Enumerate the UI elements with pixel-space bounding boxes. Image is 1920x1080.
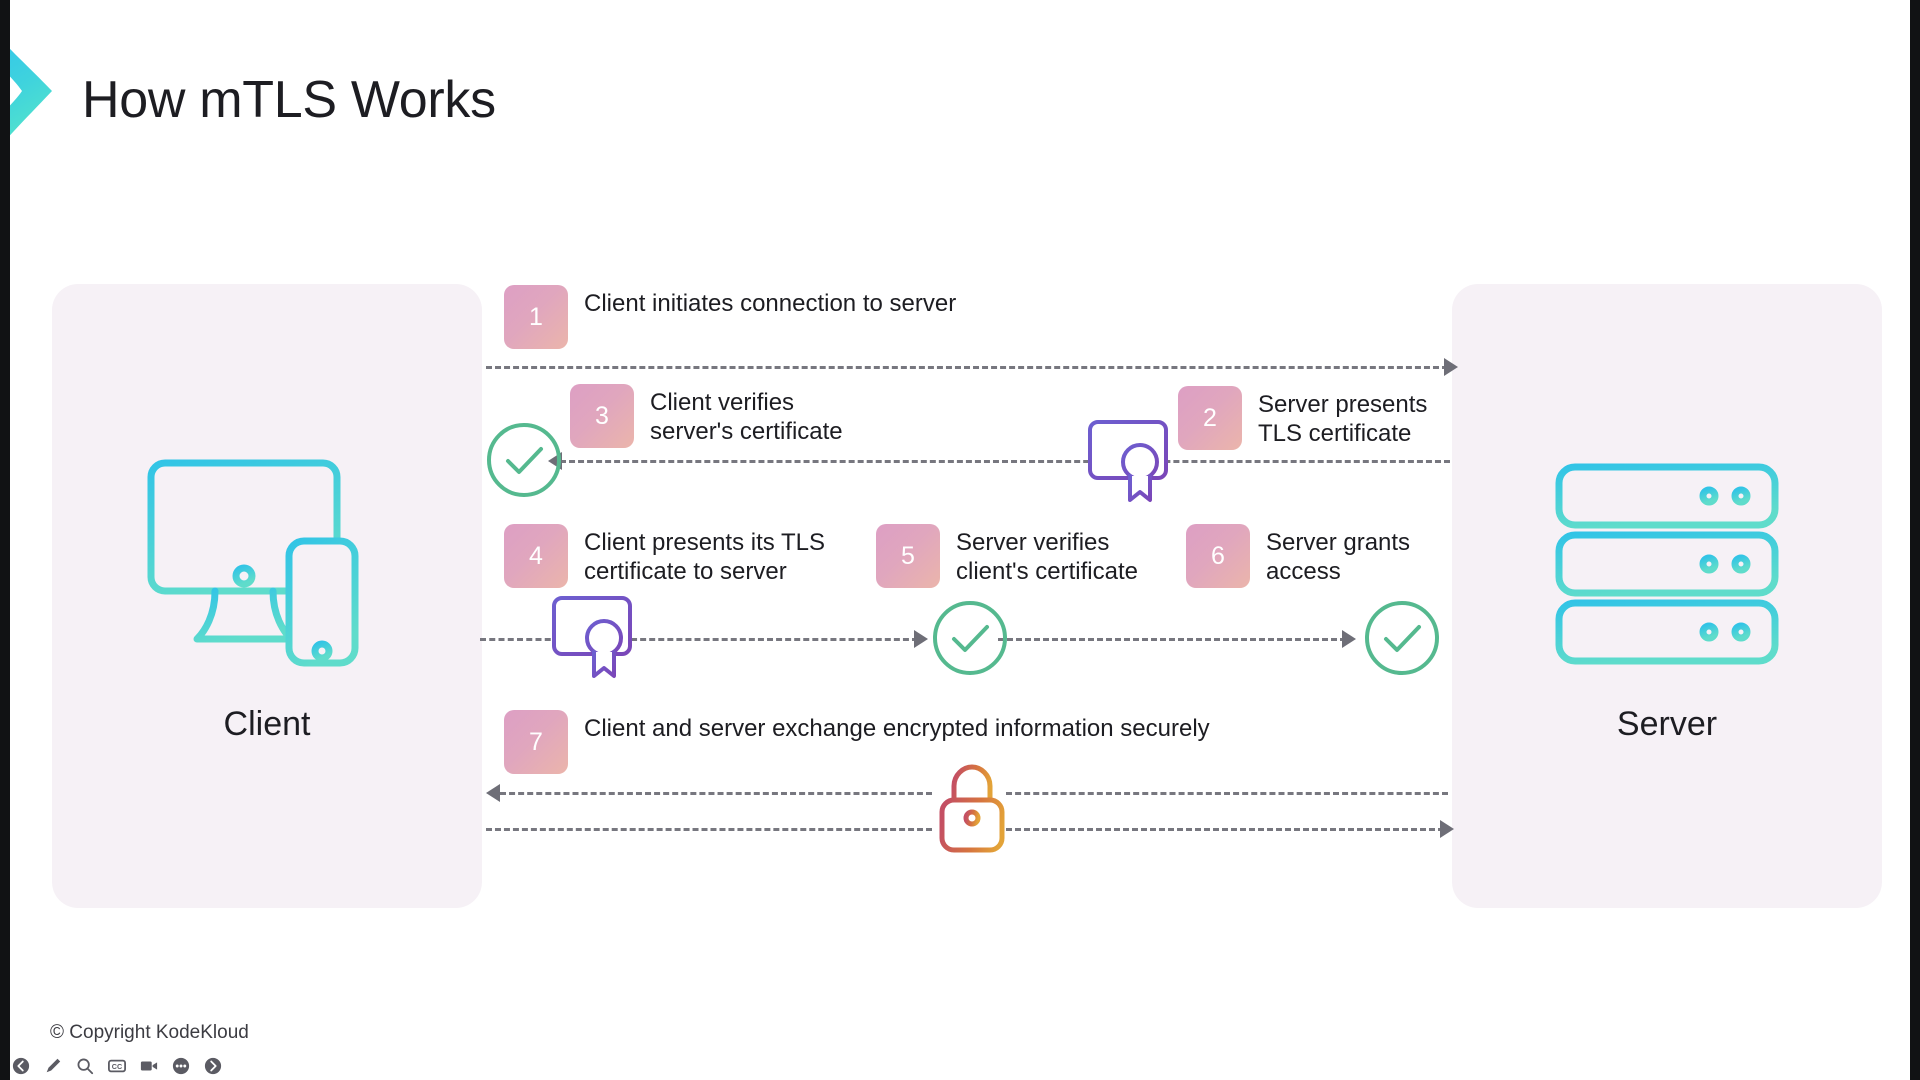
step-2-text: Server presents TLS certificate xyxy=(1258,386,1427,449)
flow-arrow-step7-right xyxy=(1440,820,1454,838)
server-endpoint-panel: Server xyxy=(1452,284,1882,908)
arrow-right-circle-icon[interactable] xyxy=(204,1057,222,1075)
flow-line-step5-b xyxy=(998,638,1346,641)
arrow-left-circle-icon[interactable] xyxy=(12,1057,30,1075)
client-verify-check-icon xyxy=(484,420,564,500)
step-3-text: Client verifies server's certificate xyxy=(650,384,843,447)
step-3: 3 Client verifies server's certificate xyxy=(570,384,843,448)
server-verify-check-icon xyxy=(930,598,1010,678)
client-label: Client xyxy=(224,705,311,744)
client-devices-icon xyxy=(137,449,397,679)
flow-line-step2 xyxy=(560,460,1450,463)
search-icon[interactable] xyxy=(76,1057,94,1075)
step-7-text: Client and server exchange encrypted inf… xyxy=(584,710,1210,743)
step-4-text: Client presents its TLS certificate to s… xyxy=(584,524,825,587)
flow-arrow-step1 xyxy=(1444,358,1458,376)
flow-arrow-step7-left xyxy=(486,784,500,802)
step-2: 2 Server presents TLS certificate xyxy=(1178,386,1427,450)
page-title: How mTLS Works xyxy=(82,70,496,130)
right-edge-rail xyxy=(1910,0,1920,1080)
encrypted-lock-icon xyxy=(930,760,1014,856)
flow-line-step1 xyxy=(486,366,1448,369)
copyright-text: © Copyright KodeKloud xyxy=(50,1022,249,1044)
flow-arrow-step5 xyxy=(914,630,928,648)
closed-captions-icon[interactable]: CC xyxy=(108,1057,126,1075)
step-5-text: Server verifies client's certificate xyxy=(956,524,1138,587)
step-1: 1 Client initiates connection to server xyxy=(504,285,956,349)
pen-icon[interactable] xyxy=(44,1057,62,1075)
step-2-badge: 2 xyxy=(1178,386,1242,450)
step-3-badge: 3 xyxy=(570,384,634,448)
step-6-text: Server grants access xyxy=(1266,524,1410,587)
svg-text:CC: CC xyxy=(112,1062,122,1071)
step-7-badge: 7 xyxy=(504,710,568,774)
slide-canvas: How mTLS Works Client xyxy=(0,0,1920,1080)
step-4: 4 Client presents its TLS certificate to… xyxy=(504,524,825,588)
server-label: Server xyxy=(1617,705,1717,744)
flow-line-step7-lower-left xyxy=(486,828,932,831)
left-edge-rail xyxy=(0,0,10,1080)
flow-line-step7-lower-right xyxy=(1006,828,1444,831)
server-rack-icon xyxy=(1537,449,1797,679)
flow-line-step7-upper-left xyxy=(500,792,932,795)
client-endpoint-panel: Client xyxy=(52,284,482,908)
step-1-badge: 1 xyxy=(504,285,568,349)
step-5: 5 Server verifies client's certificate xyxy=(876,524,1138,588)
step-1-text: Client initiates connection to server xyxy=(584,285,956,318)
step-4-badge: 4 xyxy=(504,524,568,588)
flow-line-step4-b xyxy=(622,638,918,641)
ellipsis-circle-icon[interactable] xyxy=(172,1057,190,1075)
client-certificate-icon xyxy=(546,590,638,682)
server-certificate-icon xyxy=(1082,414,1174,506)
player-toolbar: CC xyxy=(0,1052,1920,1080)
step-7: 7 Client and server exchange encrypted i… xyxy=(504,710,1210,774)
step-6-badge: 6 xyxy=(1186,524,1250,588)
step-6: 6 Server grants access xyxy=(1186,524,1410,588)
step-5-badge: 5 xyxy=(876,524,940,588)
flow-line-step7-upper-right xyxy=(1006,792,1448,795)
access-granted-check-icon xyxy=(1362,598,1442,678)
flow-arrow-step6 xyxy=(1342,630,1356,648)
video-camera-icon[interactable] xyxy=(140,1057,158,1075)
